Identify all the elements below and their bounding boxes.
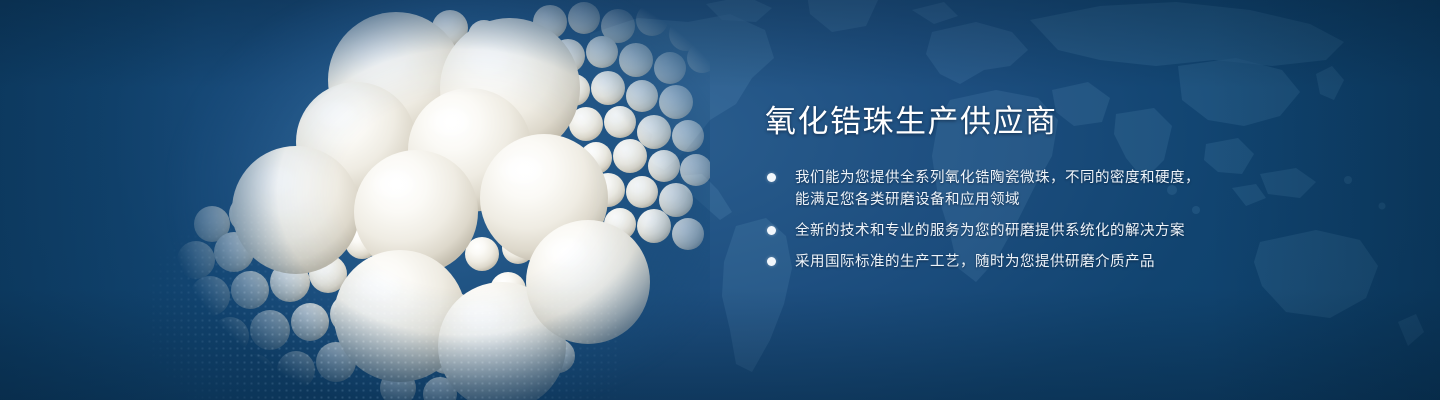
banner-copy: 氧化锆珠生产供应商 我们能为您提供全系列氧化锆陶瓷微珠，不同的密度和硬度， 能满… bbox=[765, 104, 1325, 273]
list-item: 我们能为您提供全系列氧化锆陶瓷微珠，不同的密度和硬度， 能满足您各类研磨设备和应… bbox=[765, 167, 1325, 211]
bullet-dot-icon bbox=[767, 173, 776, 182]
list-item: 采用国际标准的生产工艺，随时为您提供研磨介质产品 bbox=[765, 251, 1325, 273]
hero-banner: 氧化锆珠生产供应商 我们能为您提供全系列氧化锆陶瓷微珠，不同的密度和硬度， 能满… bbox=[0, 0, 1440, 400]
bullet-line: 全新的技术和专业的服务为您的研磨提供系统化的解决方案 bbox=[795, 220, 1325, 242]
list-item: 全新的技术和专业的服务为您的研磨提供系统化的解决方案 bbox=[765, 220, 1325, 242]
feature-bullet-list: 我们能为您提供全系列氧化锆陶瓷微珠，不同的密度和硬度， 能满足您各类研磨设备和应… bbox=[765, 167, 1325, 273]
bullet-dot-icon bbox=[767, 257, 776, 266]
bullet-dot-icon bbox=[767, 226, 776, 235]
bullet-line: 采用国际标准的生产工艺，随时为您提供研磨介质产品 bbox=[795, 251, 1325, 273]
zirconia-beads-photo bbox=[150, 0, 710, 400]
bullet-line: 能满足您各类研磨设备和应用领域 bbox=[795, 189, 1325, 211]
page-title: 氧化锆珠生产供应商 bbox=[765, 104, 1325, 141]
bullet-line: 我们能为您提供全系列氧化锆陶瓷微珠，不同的密度和硬度， bbox=[795, 167, 1325, 189]
